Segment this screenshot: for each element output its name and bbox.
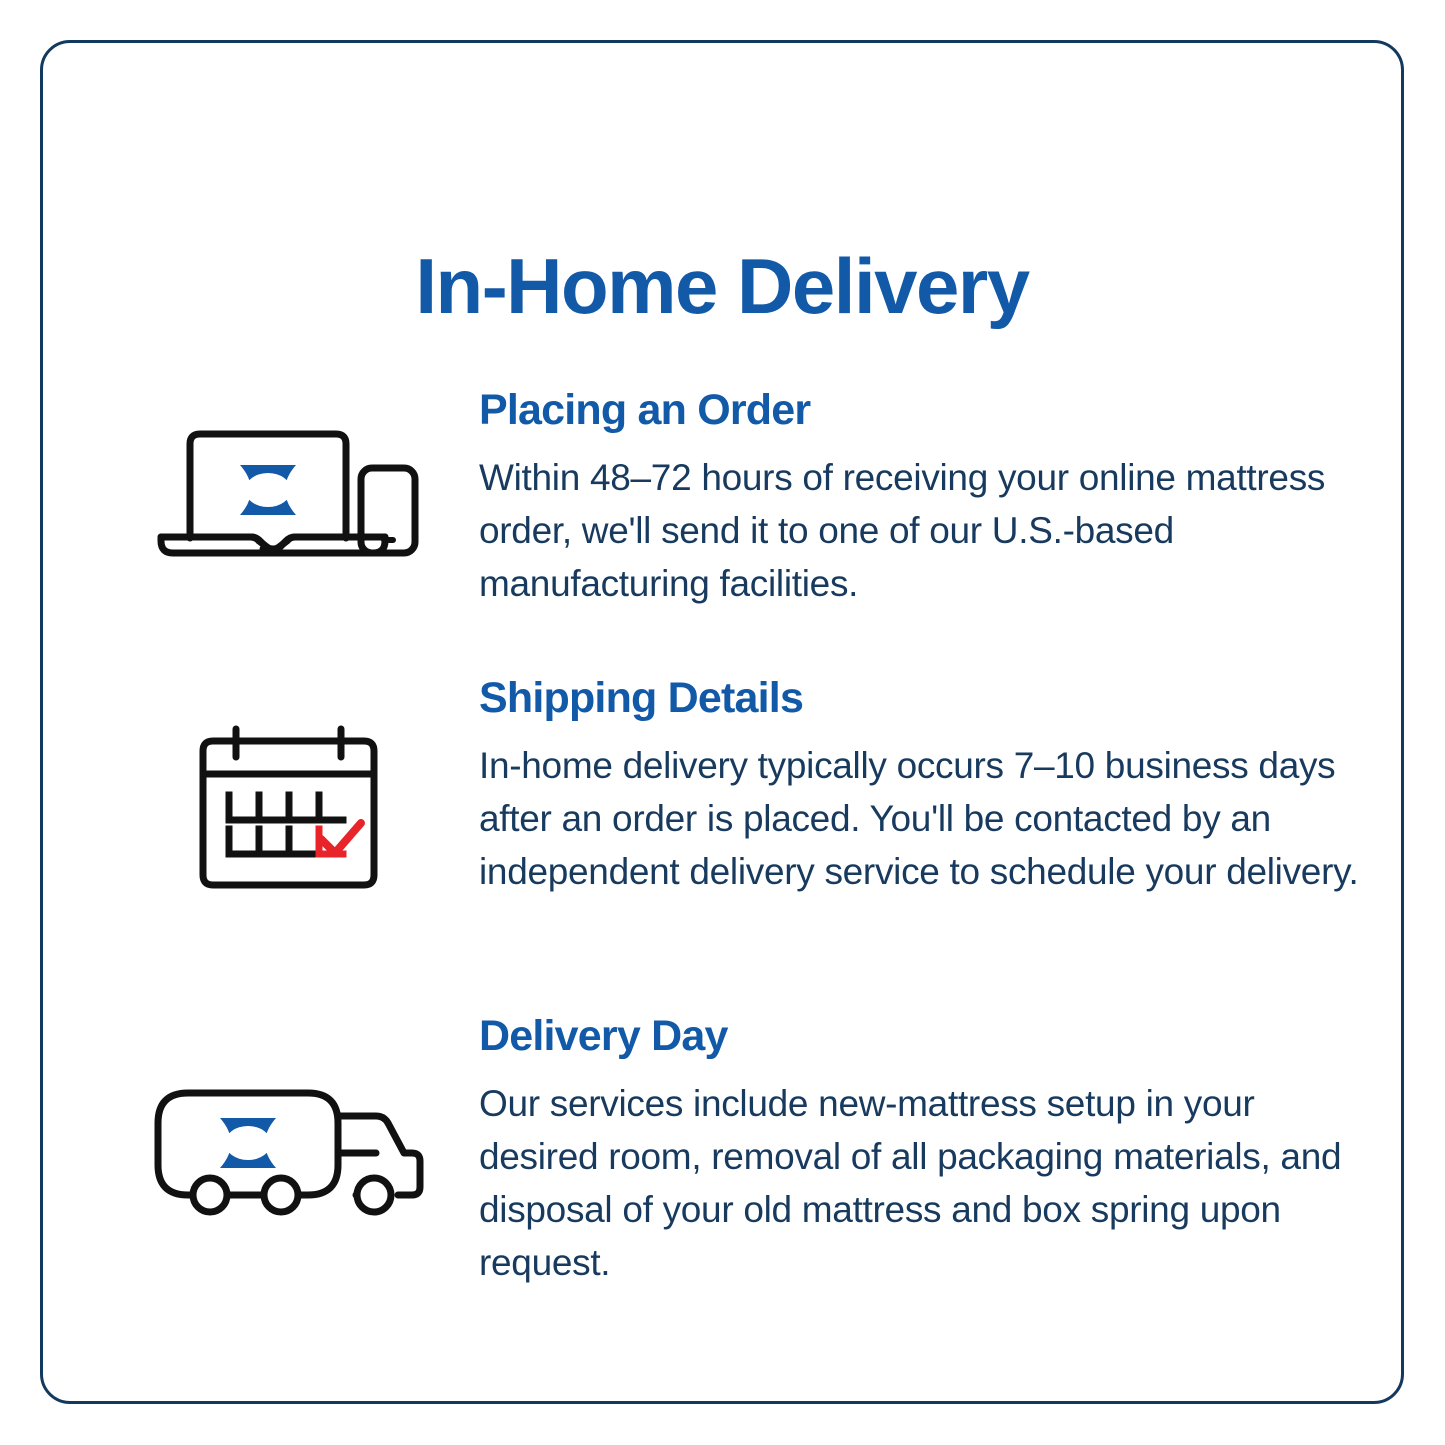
truck-wheel xyxy=(264,1178,298,1212)
calendar-marks-row-1 xyxy=(229,795,343,820)
truck-wheel xyxy=(357,1178,391,1212)
calendar-marks-row-2 xyxy=(229,829,313,854)
section-placing-an-order: Placing an Order Within 48–72 hours of r… xyxy=(133,385,1368,610)
laptop-phone-icon-wrap xyxy=(133,385,443,559)
section-text-2: Delivery Day Our services include new-ma… xyxy=(443,1011,1368,1289)
section-heading-delivery-day: Delivery Day xyxy=(479,1011,1368,1061)
section-body-placing-an-order: Within 48–72 hours of receiving your onl… xyxy=(479,451,1359,610)
delivery-truck-icon xyxy=(148,1083,428,1218)
laptop-phone-icon xyxy=(153,427,423,559)
check-icon xyxy=(321,823,361,853)
section-body-shipping-details: In-home delivery typically occurs 7–10 b… xyxy=(479,739,1359,898)
section-body-delivery-day: Our services include new-mattress setup … xyxy=(479,1077,1359,1289)
page-root: In-Home Delivery xyxy=(0,0,1445,1445)
delivery-truck-icon-wrap xyxy=(133,1011,443,1218)
section-delivery-day: Delivery Day Our services include new-ma… xyxy=(133,1011,1368,1289)
calendar-check-icon-wrap xyxy=(133,673,443,895)
section-heading-shipping-details: Shipping Details xyxy=(479,673,1368,723)
info-card: In-Home Delivery xyxy=(40,40,1404,1404)
page-title: In-Home Delivery xyxy=(43,243,1401,329)
calendar-check-icon xyxy=(181,725,396,895)
section-text-1: Shipping Details In-home delivery typica… xyxy=(443,673,1368,898)
section-text-0: Placing an Order Within 48–72 hours of r… xyxy=(443,385,1368,610)
section-heading-placing-an-order: Placing an Order xyxy=(479,385,1368,435)
truck-wheel xyxy=(193,1178,227,1212)
section-shipping-details: Shipping Details In-home delivery typica… xyxy=(133,673,1368,898)
